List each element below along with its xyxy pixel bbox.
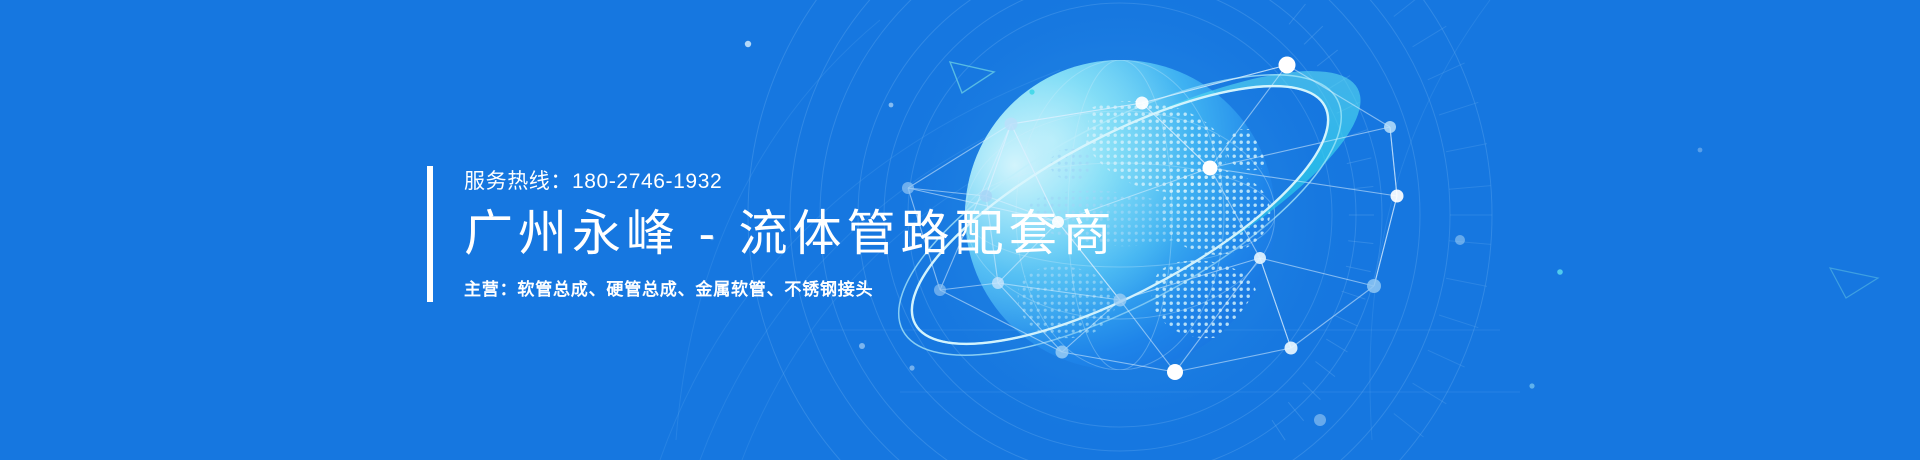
promotional-banner: 服务热线：180-2746-1932 广州永峰 - 流体管路配套商 主营：软管总… [0,0,1920,460]
service-hotline-label: 服务热线：180-2746-1932 [464,169,1117,195]
banner-text-block: 服务热线：180-2746-1932 广州永峰 - 流体管路配套商 主营：软管总… [427,166,1117,302]
banner-subtitle-products: 主营：软管总成、硬管总成、金属软管、不锈钢接头 [464,278,1117,302]
accent-bar [427,166,433,302]
text-column: 服务热线：180-2746-1932 广州永峰 - 流体管路配套商 主营：软管总… [464,166,1117,302]
banner-headline: 广州永峰 - 流体管路配套商 [464,204,1117,264]
